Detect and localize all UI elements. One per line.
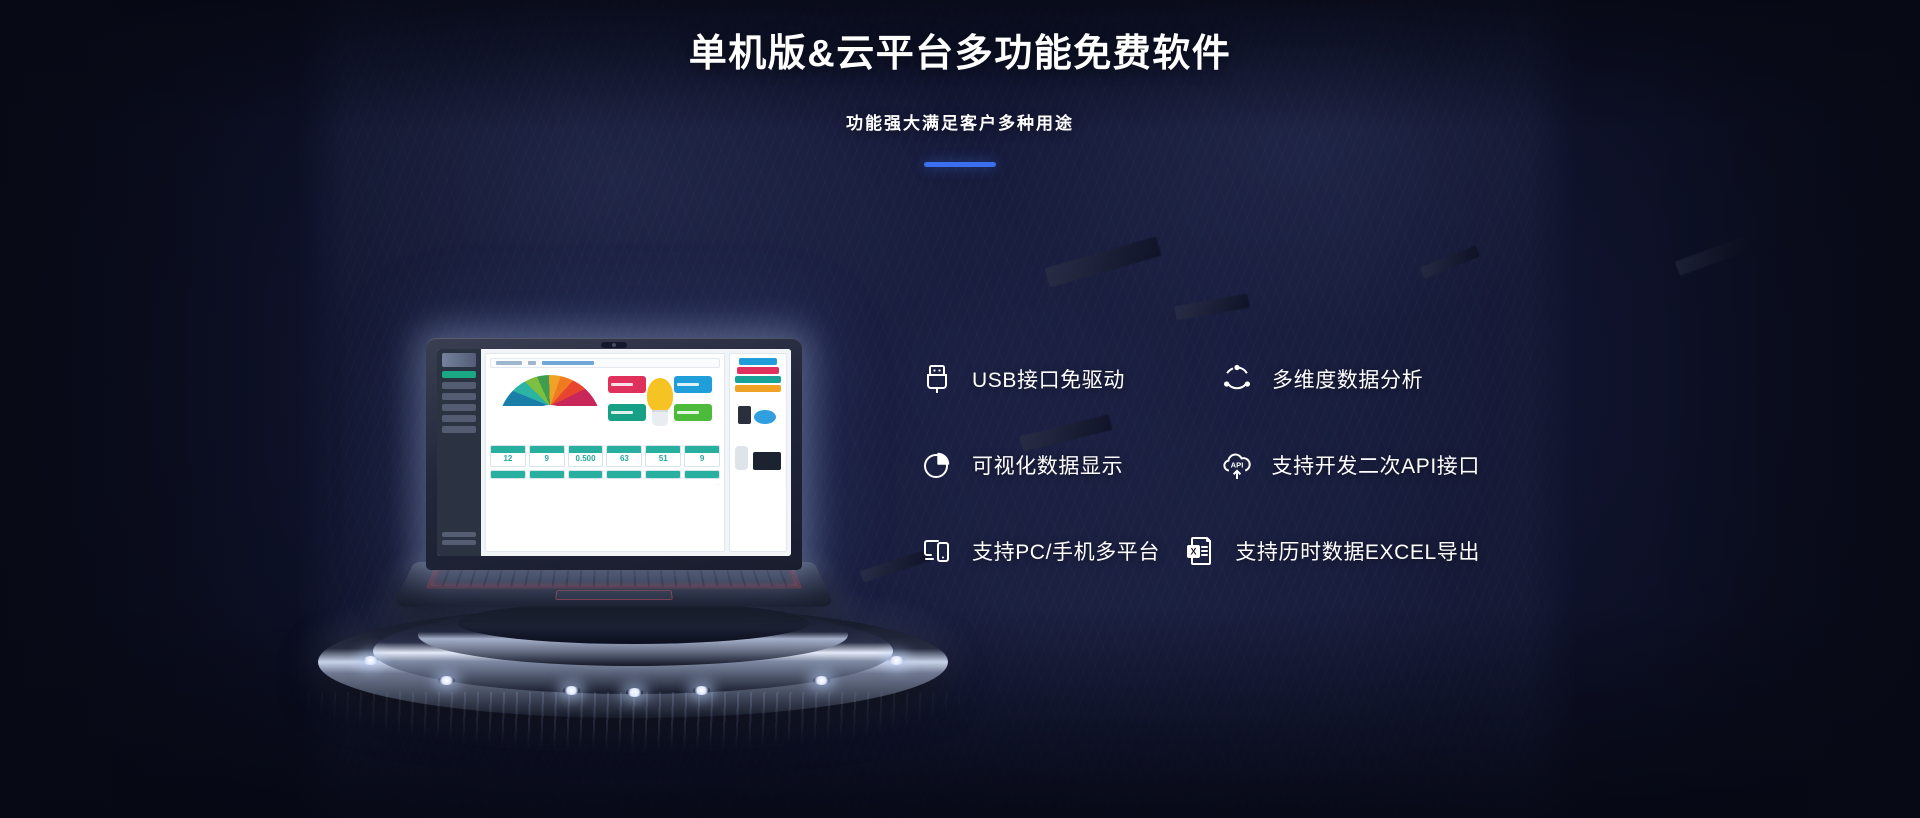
info-card	[568, 470, 604, 479]
pie-chart-icon	[920, 448, 954, 482]
svg-text:API: API	[1230, 461, 1243, 470]
usb-icon	[920, 362, 954, 396]
bulb-chip	[674, 404, 712, 421]
metric-cards-row-2	[490, 470, 720, 479]
laptop-lid: 12 9 0.500	[426, 338, 802, 570]
cloud-server-graphic	[736, 404, 780, 430]
app-logo	[442, 353, 476, 367]
feature-label: 支持开发二次API接口	[1272, 450, 1480, 480]
feature-label: 支持PC/手机多平台	[972, 536, 1160, 566]
metric-card: 51	[645, 445, 681, 467]
metric-value: 9	[530, 453, 564, 465]
ribbon-graphic	[735, 358, 781, 394]
feature-item-multi-dimension-analysis[interactable]: 多维度数据分析	[1220, 362, 1423, 396]
lightbulb-icon	[647, 378, 673, 412]
feature-row: 支持PC/手机多平台 X 支持历时数据EXCEL导出	[920, 534, 1480, 568]
metric-value: 51	[646, 453, 680, 465]
info-card	[645, 470, 681, 479]
metric-card: 63	[606, 445, 642, 467]
floor-lines	[243, 692, 1023, 770]
metric-card: 9	[684, 445, 720, 467]
metric-value: 0.500	[569, 453, 603, 465]
info-card	[684, 470, 720, 479]
app-sidebar	[437, 349, 481, 556]
info-card	[529, 470, 565, 479]
hero-header: 单机版&云平台多功能免费软件 功能强大满足客户多种用途	[0, 22, 1920, 167]
accent-divider	[924, 162, 996, 167]
webcam-icon	[601, 342, 627, 348]
feature-label: 多维度数据分析	[1272, 364, 1423, 394]
devices-graphic	[735, 440, 781, 472]
feature-item-excel-export[interactable]: X 支持历时数据EXCEL导出	[1183, 534, 1480, 568]
feature-item-api[interactable]: API 支持开发二次API接口	[1220, 448, 1480, 482]
metric-cards-row-1: 12 9 0.500	[490, 445, 720, 467]
feature-item-multiplatform[interactable]: 支持PC/手机多平台	[920, 534, 1183, 568]
metric-card: 0.500	[568, 445, 604, 467]
sidebar-footer	[442, 532, 476, 548]
feature-label: 支持历时数据EXCEL导出	[1235, 536, 1480, 566]
sidebar-item-report[interactable]	[442, 404, 476, 411]
stage-led	[438, 676, 455, 685]
page-title: 单机版&云平台多功能免费软件	[0, 22, 1920, 77]
sidebar-item-history[interactable]	[442, 393, 476, 400]
trackpad	[555, 590, 673, 600]
info-card	[490, 470, 526, 479]
segmented-gauge	[498, 375, 602, 437]
breadcrumb	[490, 358, 720, 368]
metric-value: 12	[491, 453, 525, 465]
sidebar-item-dashboard[interactable]	[442, 371, 476, 378]
dashboard-widgets	[490, 374, 720, 438]
bulb-chip	[674, 376, 712, 393]
sidebar-item-settings[interactable]	[442, 426, 476, 433]
bulb-chip	[608, 376, 646, 393]
laptop-computer: 12 9 0.500	[414, 338, 814, 618]
metric-value: 63	[607, 453, 641, 465]
bulb-infographic	[608, 374, 712, 438]
excel-file-icon: X	[1183, 534, 1217, 568]
hero-banner: 单机版&云平台多功能免费软件 功能强大满足客户多种用途	[0, 0, 1920, 818]
stage-led	[362, 656, 379, 665]
feature-list: USB接口免驱动 多维度数据分析	[920, 362, 1480, 568]
glowing-stage	[318, 600, 948, 722]
info-card	[606, 470, 642, 479]
sidebar-item-device[interactable]	[442, 415, 476, 422]
network-nodes-icon	[1220, 362, 1254, 396]
feature-label: USB接口免驱动	[972, 364, 1125, 394]
svg-text:X: X	[1191, 547, 1197, 557]
sidebar-item-monitor[interactable]	[442, 382, 476, 389]
metric-card: 12	[490, 445, 526, 467]
laptop-screen: 12 9 0.500	[437, 349, 791, 556]
app-main: 12 9 0.500	[481, 349, 791, 556]
feature-item-visualization[interactable]: 可视化数据显示	[920, 448, 1220, 482]
illustration-panel	[729, 353, 787, 552]
feature-item-usb[interactable]: USB接口免驱动	[920, 362, 1220, 396]
dashboard-panel: 12 9 0.500	[485, 353, 725, 552]
bulb-chip	[608, 404, 646, 421]
api-cloud-icon: API	[1220, 448, 1254, 482]
page-subtitle: 功能强大满足客户多种用途	[0, 109, 1920, 134]
stage-led	[888, 656, 905, 665]
metric-card: 9	[529, 445, 565, 467]
feature-row: USB接口免驱动 多维度数据分析	[920, 362, 1480, 396]
stage-led	[813, 676, 830, 685]
metric-value: 9	[685, 453, 719, 465]
bulb-base	[652, 410, 668, 426]
feature-row: 可视化数据显示 API 支持开发二次API接口	[920, 448, 1480, 482]
devices-icon	[920, 534, 954, 568]
feature-label: 可视化数据显示	[972, 450, 1123, 480]
panel-footnote: ······	[490, 483, 720, 487]
